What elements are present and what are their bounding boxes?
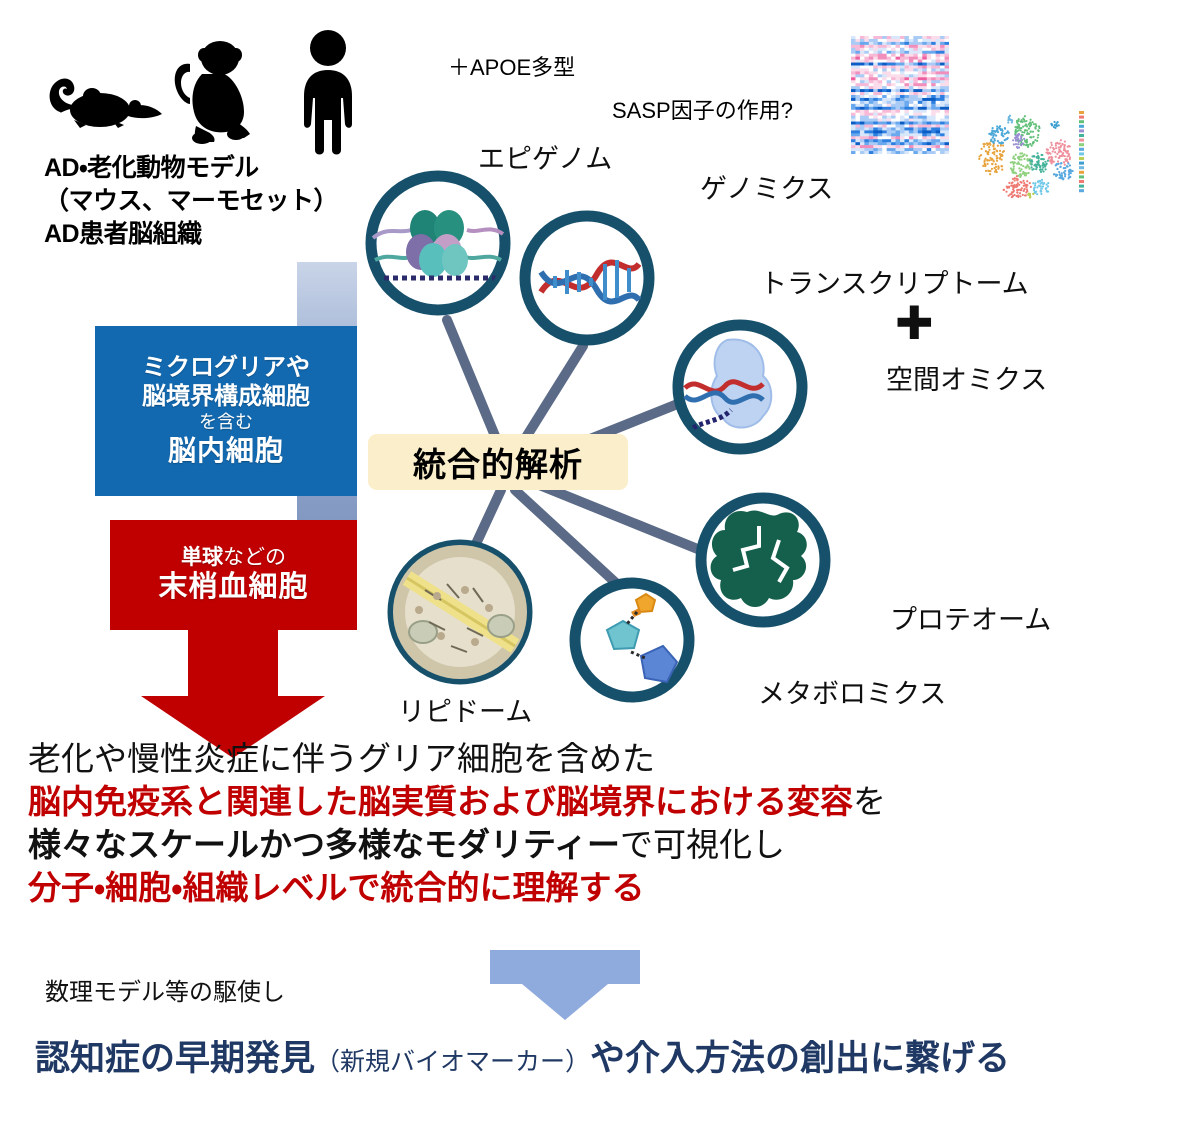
blue-arrow-svg xyxy=(490,950,640,1022)
heatmap-thumbnail xyxy=(851,36,949,154)
sample-source-text: AD・老化動物モデル （マウス、マーモセット） AD患者脳組織 xyxy=(44,152,374,251)
monkey-icon xyxy=(175,41,250,144)
conclusion-line-4: 分子・細胞・組織レベルで統合的に理解する xyxy=(28,867,1188,910)
blood-box-line-1-rest: などの xyxy=(223,546,286,569)
conclusion-line-1: 老化や慢性炎症に伴うグリア細胞を含めた xyxy=(28,738,1188,781)
omics-label-spatial-omics: 空間オミクス xyxy=(886,358,1047,397)
source-line-2: （マウス、マーモセット） xyxy=(44,185,374,218)
spatial-omics-circle xyxy=(678,325,802,449)
final-goal-part-1: 認知症の早期発見 xyxy=(35,1039,315,1078)
diagram-canvas: AD・老化動物モデル （マウス、マーモセット） AD患者脳組織 ミクログリアや … xyxy=(0,0,1200,1121)
umap-svg xyxy=(955,95,1090,210)
human-icon xyxy=(304,30,352,155)
conclusion-block: 老化や慢性炎症に伴うグリア細胞を含めた 脳内免疫系と関連した脳実質および脳境界に… xyxy=(28,738,1188,910)
plus-sign: ✚ xyxy=(895,300,934,346)
integrated-analysis-hub: 統合的解析 xyxy=(368,434,628,490)
final-goal-paren: （新規バイオマーカー） xyxy=(315,1048,590,1076)
apoe-annotation: ＋APOE多型 xyxy=(448,50,575,82)
brain-box-line-2: 脳境界構成細胞 xyxy=(142,383,310,411)
heatmap-svg xyxy=(851,36,949,154)
source-line-1: AD・老化動物モデル xyxy=(44,152,374,185)
blood-box-line-1-strong: 単球 xyxy=(181,546,223,569)
conclusion-line-3-bold: 様々なスケールかつ多様なモダリティー xyxy=(28,826,620,863)
metabolome-circle xyxy=(575,583,689,697)
omics-label-transcriptome: トランスクリプトーム xyxy=(760,262,1029,301)
genomics-circle xyxy=(525,216,649,340)
peripheral-blood-box: 単球などの 末梢血細胞 xyxy=(110,520,357,630)
proteome-circle xyxy=(701,498,825,622)
source-line-3: AD患者脳組織 xyxy=(44,218,374,251)
lipid-membrane-icon xyxy=(398,550,522,674)
conclusion-line-2: 脳内免疫系と関連した脳実質および脳境界における変容を xyxy=(28,781,1188,824)
conclusion-line-3-tail: で可視化し xyxy=(620,826,785,863)
blue-down-arrow xyxy=(490,950,640,1022)
conclusion-line-3: 様々なスケールかつ多様なモダリティーで可視化し xyxy=(28,824,1188,867)
umap-cluster-plot xyxy=(955,95,1090,210)
epigenome-circle xyxy=(371,176,505,310)
lipidome-circle xyxy=(393,545,527,679)
omics-label-lipidome: リピドーム xyxy=(398,690,532,729)
final-goal-text: 認知症の早期発見（新規バイオマーカー）や介入方法の創出に繋げる xyxy=(35,1030,1010,1081)
brain-box-line-4: 脳内細胞 xyxy=(168,434,284,468)
conclusion-line-2-tail: を xyxy=(853,783,886,820)
conclusion-line-2-red: 脳内免疫系と関連した脳実質および脳境界における変容 xyxy=(28,783,853,820)
sasp-annotation: SASP因子の作用? xyxy=(612,93,793,125)
blood-box-line-1: 単球などの xyxy=(181,545,286,570)
animal-silhouettes-svg xyxy=(40,28,400,158)
omics-label-epigenome: エピゲノム xyxy=(478,137,612,176)
brain-cells-box: ミクログリアや 脳境界構成細胞 を含む 脳内細胞 xyxy=(95,326,357,496)
blood-box-line-2: 末梢血細胞 xyxy=(158,570,308,605)
animal-icon-group xyxy=(40,28,400,158)
math-model-note: 数理モデル等の駆使し xyxy=(45,972,285,1007)
omics-label-genomics: ゲノミクス xyxy=(700,167,833,206)
omics-label-metabolome: メタボロミクス xyxy=(758,672,946,711)
mouse-icon xyxy=(50,79,162,128)
brain-box-line-3: を含む xyxy=(199,411,253,434)
final-goal-part-2: や介入方法の創出に繋げる xyxy=(590,1039,1010,1078)
brain-box-line-1: ミクログリアや xyxy=(142,354,310,382)
omics-label-proteome: プロテオーム xyxy=(890,598,1051,637)
